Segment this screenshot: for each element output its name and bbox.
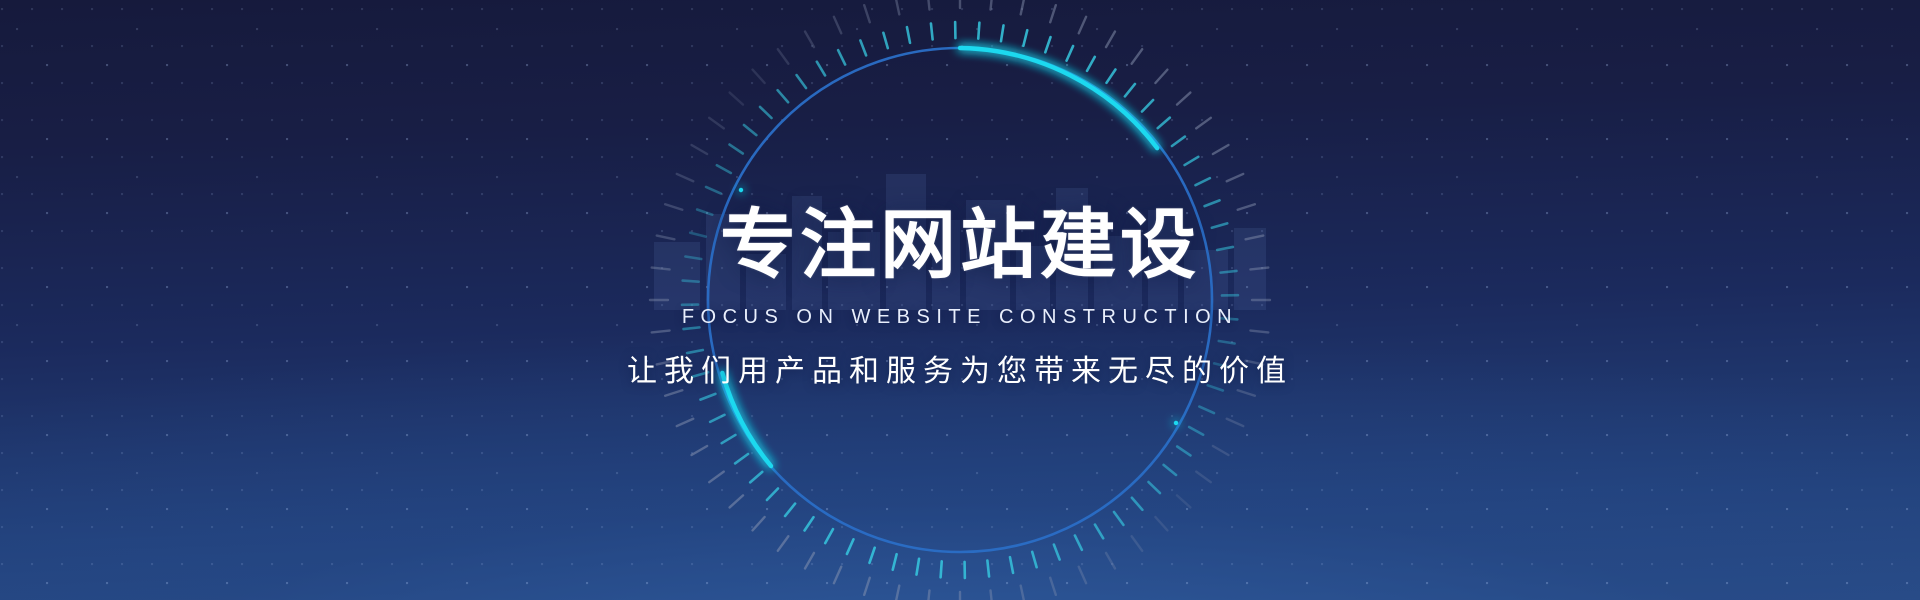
banner-subtitle: FOCUS ON WEBSITE CONSTRUCTION xyxy=(682,307,1238,327)
banner-tagline: 让我们用产品和服务为您带来无尽的价值 xyxy=(627,357,1293,387)
page-title: 专注网站建设 xyxy=(720,207,1200,283)
banner-copy: 专注网站建设 FOCUS ON WEBSITE CONSTRUCTION 让我们… xyxy=(0,0,1920,600)
hero-banner: 专注网站建设 FOCUS ON WEBSITE CONSTRUCTION 让我们… xyxy=(0,0,1920,600)
